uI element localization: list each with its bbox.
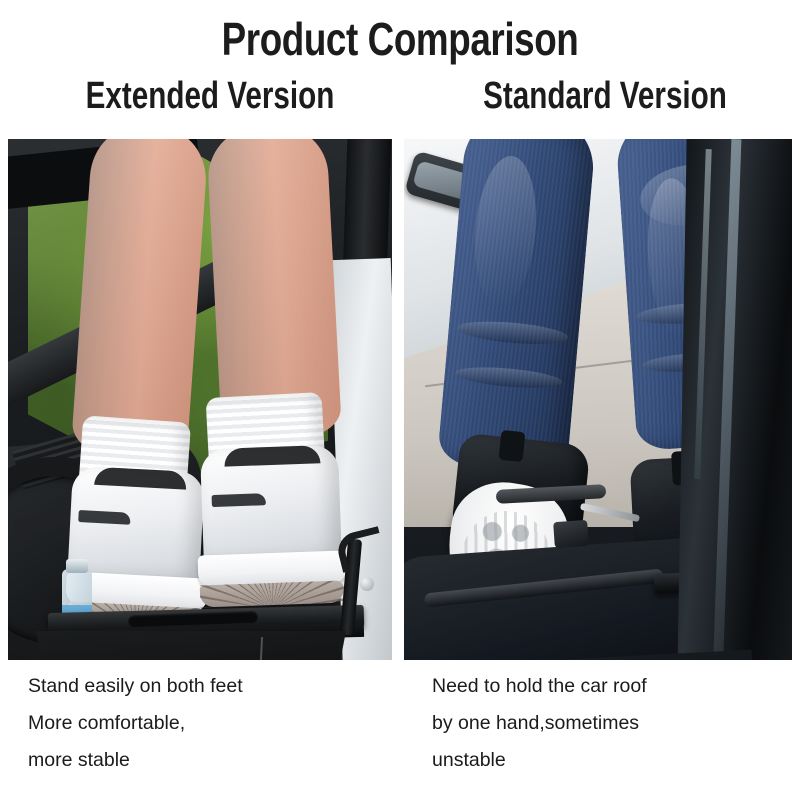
shoe-swoosh-icon xyxy=(212,493,266,507)
door-striker-bolt xyxy=(360,577,374,591)
caption-line: Need to hold the car roof xyxy=(432,668,647,705)
product-photo-standard xyxy=(404,139,792,660)
caption-standard: Need to hold the car roof by one hand,so… xyxy=(432,668,647,779)
leg-shading xyxy=(71,139,210,461)
page-title: Product Comparison xyxy=(80,14,720,64)
shoe-strap xyxy=(498,430,525,462)
column-title-extended: Extended Version xyxy=(62,74,358,118)
seatbelt-buckle xyxy=(553,520,589,548)
jeans-crease xyxy=(469,153,542,308)
shoe-collar xyxy=(224,445,321,466)
caption-line: by one hand,sometimes xyxy=(432,705,647,742)
product-photo-extended xyxy=(8,139,392,660)
caption-line: unstable xyxy=(432,742,647,779)
shoe-collar xyxy=(94,467,187,490)
column-title-standard: Standard Version xyxy=(465,74,746,118)
shoe-swoosh-icon xyxy=(78,510,131,525)
caption-line: Stand easily on both feet xyxy=(28,668,243,705)
caption-line: More comfortable, xyxy=(28,705,243,742)
caption-extended: Stand easily on both feet More comfortab… xyxy=(28,668,243,779)
step-fabric-panel xyxy=(36,631,346,660)
jeans-fold xyxy=(454,364,563,391)
jeans-fold xyxy=(456,318,569,348)
caption-line: more stable xyxy=(28,742,243,779)
bare-leg-left xyxy=(71,139,210,461)
bottle-cap xyxy=(66,559,88,573)
